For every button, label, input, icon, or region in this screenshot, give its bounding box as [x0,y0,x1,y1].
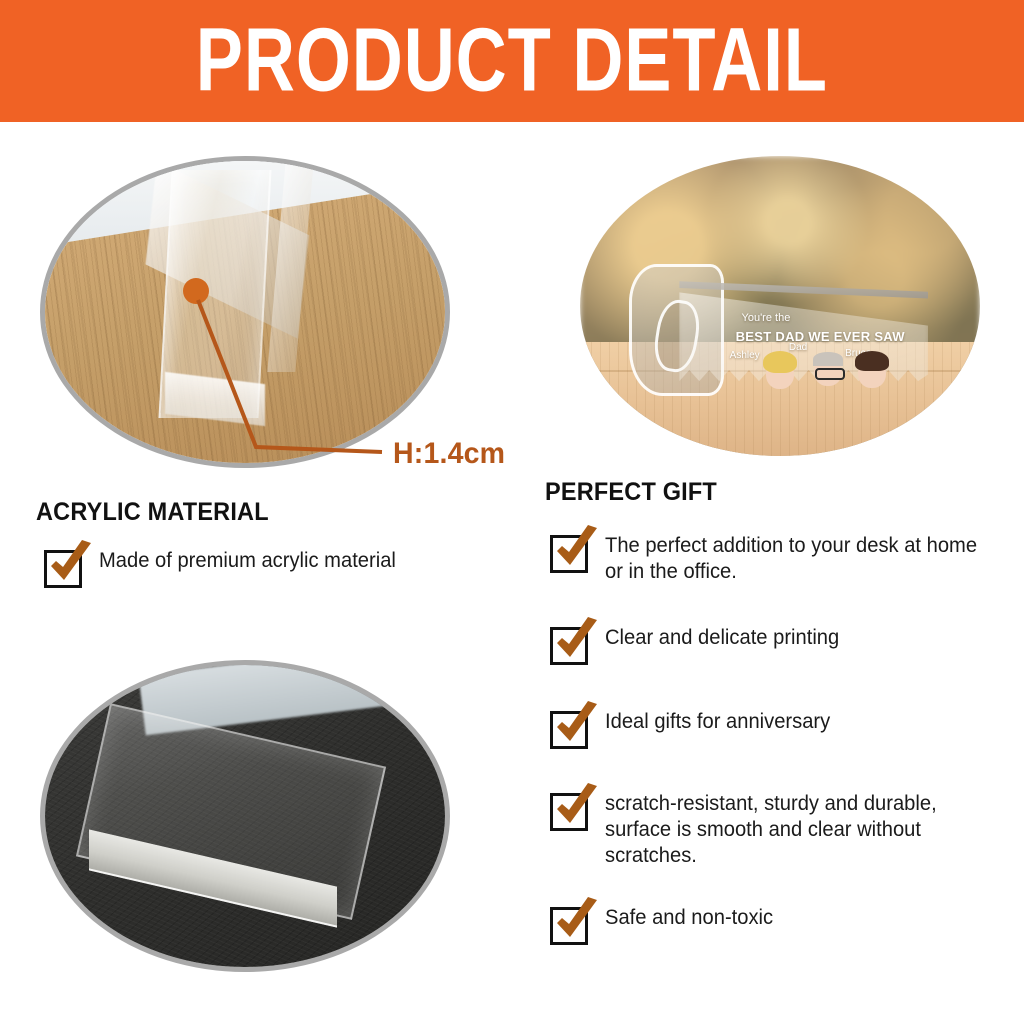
checkbox-checked[interactable] [550,907,588,945]
photo-scene [45,161,445,463]
check-icon [551,896,603,948]
glasses-icon [815,368,845,380]
avatar-hair [855,351,889,371]
avatar-bruce [854,350,890,390]
feature-item: Made of premium acrylic material [44,548,514,588]
section-title-perfect-gift: PERFECT GIFT [545,478,717,507]
page-title: PRODUCT DETAIL [196,16,828,106]
plaque-text-line-2: BEST DAD WE EVER SAW [736,329,905,344]
photo-acrylic-edge [40,156,450,468]
section-title-acrylic-material: ACRYLIC MATERIAL [36,498,269,527]
checkbox-checked[interactable] [550,535,588,573]
check-icon [551,524,603,576]
check-icon [551,616,603,668]
checkbox-checked[interactable] [44,550,82,588]
saw-shaped-plaque: You're the BEST DAD WE EVER SAW Ashley D… [632,255,928,405]
feature-item: The perfect addition to your desk at hom… [550,533,1000,585]
plaque-name-ashley: Ashley [730,350,760,361]
check-icon [45,539,97,591]
check-icon [551,782,603,834]
feature-item: Clear and delicate printing [550,625,1000,665]
avatar-hair [763,351,797,373]
plaque-text-line-1: You're the [742,312,791,324]
feature-text: The perfect addition to your desk at hom… [605,533,984,585]
check-icon [551,700,603,752]
feature-text: Safe and non-toxic [605,905,773,931]
feature-text: Clear and delicate printing [605,625,839,651]
avatar-hair [813,352,843,366]
checkbox-checked[interactable] [550,793,588,831]
photo-saw-plaque: You're the BEST DAD WE EVER SAW Ashley D… [580,156,980,456]
checkbox-checked[interactable] [550,711,588,749]
checkbox-checked[interactable] [550,627,588,665]
feature-text: Made of premium acrylic material [99,548,396,574]
avatar-dad [810,348,846,388]
feature-item: Ideal gifts for anniversary [550,709,1000,749]
dimension-label-height: H:1.4cm [393,437,505,471]
photo-acrylic-block [40,660,450,972]
feature-item: Safe and non-toxic [550,905,1000,945]
avatar-ashley [762,351,798,391]
header-banner: PRODUCT DETAIL [0,0,1024,122]
feature-text: scratch-resistant, sturdy and durable, s… [605,791,994,869]
feature-text: Ideal gifts for anniversary [605,709,830,735]
feature-item: scratch-resistant, sturdy and durable, s… [550,791,1010,869]
